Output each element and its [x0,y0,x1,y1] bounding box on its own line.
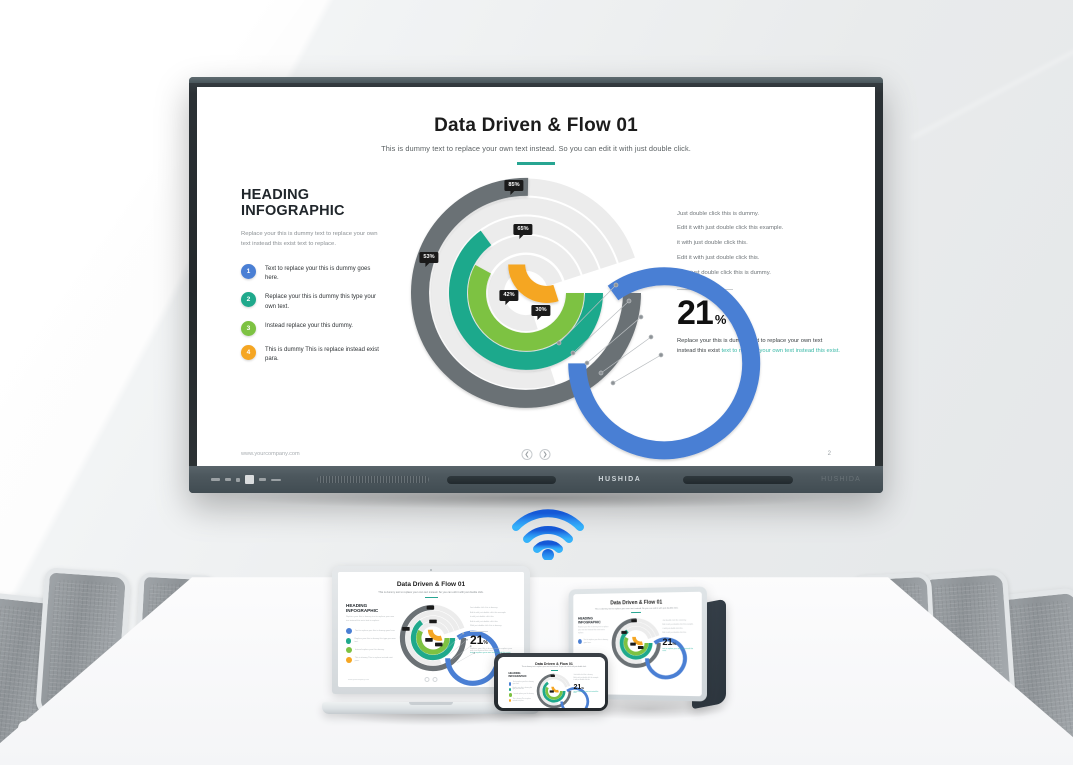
stat-number: 21 [677,296,713,330]
mini-stat-desc-accent: text to replace your own text instead th… [574,692,600,694]
right-text-3: it with just double click this. [677,240,841,248]
bullet-text: Replace your this is dummy this type you… [354,638,396,644]
mini-paragraph: Replace your this is dummy text to repla… [578,627,609,636]
bullet-text: Text to replace your this is dummy goes … [513,682,535,686]
mini-right-4: Edit it with just double click this. [662,632,696,634]
mini-stat: 21% [662,638,696,647]
list-item[interactable]: 2 Replace your this is dummy this type y… [241,292,381,312]
mini-footer-url: www.yourcompany.com [348,679,369,681]
presentation-slide: Data Driven & Flow 01 This is dummy text… [197,87,875,466]
bullet-text: Replace your this is dummy this type you… [265,292,381,312]
mini-right-2: Edit it with just double click this exam… [574,678,600,679]
display-screen[interactable]: Data Driven & Flow 01 This is dummy text… [197,87,875,466]
bullet-text: Text to replace your this is dummy goes … [355,630,395,633]
wifi-icon [511,508,585,560]
list-item: Text to replace your this is dummy goes … [346,628,396,634]
mini-subtitle: This is dummy text to replace your own t… [573,607,701,611]
left-heading: HEADING INFOGRAPHIC [241,187,381,221]
radial-chart[interactable]: 53% 85% 65% 42% 30% [401,173,651,413]
mini-subtitle: This is dummy text to replace your own t… [504,667,605,668]
list-item: This is dummy This is replace instead ex… [509,699,535,703]
bullet-number-badge: 3 [241,321,256,336]
bullet-number-badge: 2 [241,292,256,307]
dot-icon[interactable] [236,478,240,482]
chart-label-30: 30% [531,305,550,316]
back-icon[interactable] [259,478,266,481]
mini-bullets: Text to replace your this is dummy goes … [509,682,535,702]
home-icon[interactable] [245,475,254,484]
slide-title: Data Driven & Flow 01 [231,115,841,137]
mini-right-4: Edit it with just double click this. [470,621,516,623]
mini-right-2: Edit it with just double click this exam… [470,612,516,614]
mini-stat-divider [470,631,488,632]
interactive-display[interactable]: Data Driven & Flow 01 This is dummy text… [189,77,883,493]
stat-value: 21 % [677,296,841,330]
bullet-number-badge [346,647,352,653]
stat-percent-symbol: % [715,312,727,327]
slide-body: HEADING INFOGRAPHIC Replace your this is… [231,177,841,423]
mini-stat-symbol: % [673,641,677,646]
heading-line-1: HEADING [241,187,309,203]
bullet-number-badge: 4 [241,345,256,360]
chart-label-42: 42% [499,290,518,301]
bullet-number-badge [578,639,582,644]
bullet-text: Text to replace your this is dummy goes … [584,639,609,644]
line-icon[interactable] [271,479,281,481]
display-bezel: Data Driven & Flow 01 This is dummy text… [189,77,883,493]
wifi-dot [542,549,554,560]
mini-heading-2: INFOGRAPHIC [346,608,378,613]
mini-stat: 21% [470,634,516,646]
mini-right-2: Edit it with just double click this exam… [662,624,696,626]
mini-heading: HEADING INFOGRAPHIC [509,673,535,679]
phone-body: Data Driven & Flow 01 This is dummy text… [494,653,608,711]
right-text-1: Just double click this is dummy. [677,211,841,219]
left-paragraph: Replace your this is dummy text to repla… [241,229,381,250]
mini-subtitle: This is dummy text to replace your own t… [338,591,524,594]
display-top-cap [189,77,883,83]
mini-heading-2: INFOGRAPHIC [509,675,527,678]
mini-heading: HEADING INFOGRAPHIC [578,617,609,625]
list-item: Instead replace your this dummy. [346,647,396,653]
bullet-text: Instead replace your this dummy. [265,321,353,331]
center-column: 53% 85% 65% 42% 30% [381,177,671,423]
bullet-list: 1 Text to replace your this is dummy goe… [241,264,381,365]
list-item[interactable]: 1 Text to replace your this is dummy goe… [241,264,381,284]
mini-title: Data Driven & Flow 01 [504,662,605,666]
radial-chart-svg [401,173,651,413]
mini-radial-chart [609,617,662,670]
heading-line-2: INFOGRAPHIC [241,203,345,219]
mini-right: Just double click this is dummy. Edit it… [574,673,600,707]
mini-chart-wrap [535,673,574,707]
mini-stat-desc-accent: text to replace your own text instead th… [662,648,696,652]
mini-divider [631,612,641,613]
slide-subtitle: This is dummy text to replace your own t… [231,144,841,153]
bullet-text: This is dummy This is replace instead ex… [513,699,535,703]
mini-slide-phone: Data Driven & Flow 01 This is dummy text… [498,657,605,708]
mini-title: Data Driven & Flow 01 [338,581,524,588]
chevron-left-icon [425,677,430,682]
mini-right-3: it with just double click this. [574,680,600,681]
mini-paragraph: Replace your this is dummy text to repla… [346,616,396,623]
mini-heading-2: INFOGRAPHIC [578,620,601,624]
bullet-number-badge [509,693,513,697]
mini-stat-symbol: % [581,686,584,690]
mini-bullets: Text to replace your this is dummy goes … [346,628,396,663]
wifi-icon-svg [511,508,585,560]
mini-stat-number: 21 [470,633,483,647]
mini-stat: 21% [574,684,600,691]
mini-stat-symbol: % [483,640,487,646]
chevron-right-icon[interactable]: ❯ [540,449,551,460]
mini-radial-chart [397,603,469,673]
speaker-grille-left [317,476,429,483]
list-item: This is dummy This is replace instead ex… [346,657,396,663]
mini-left: HEADING INFOGRAPHIC Replace your this is… [346,603,396,673]
bezel-bar-left [447,476,557,484]
laptop-notch [409,702,453,705]
mini-heading: HEADING INFOGRAPHIC [346,603,396,613]
bullet-number-badge: 1 [241,264,256,279]
chevron-right-icon [433,677,438,682]
display-control-bar: HUSHIDA HUSHIDA [189,466,883,493]
conference-room-scene: Data Driven & Flow 01 This is dummy text… [0,0,1073,765]
mini-right-3: it with just double click this. [470,616,516,618]
mini-stat-number: 21 [662,637,672,647]
bullet-number-badge [509,682,512,686]
list-item: Instead replace your this dummy. [509,693,535,697]
bullet-text: Instead replace your this dummy. [355,649,384,652]
title-divider [517,162,555,165]
bullet-text: This is dummy This is replace instead ex… [355,657,396,663]
mini-right-1: Just double click this is dummy. [470,607,516,609]
mini-right-3: it with just double click this. [662,628,696,630]
bullet-number-badge [346,657,352,663]
brand-logo: HUSHIDA [598,476,641,483]
bullet-text: Instead replace your this dummy. [514,694,534,696]
phone-screen[interactable]: Data Driven & Flow 01 This is dummy text… [498,657,605,708]
bullet-text: Text to replace your this is dummy goes … [265,264,381,284]
list-item: Text to replace your this is dummy goes … [578,639,609,644]
mini-divider [551,670,558,671]
menu-icon[interactable] [211,478,220,481]
list-item[interactable]: 3 Instead replace your this dummy. [241,321,381,336]
phone[interactable]: Data Driven & Flow 01 This is dummy text… [494,653,608,711]
mini-divider [425,597,438,598]
mini-body: HEADING INFOGRAPHIC Text to replace your… [504,673,605,707]
minus-icon[interactable] [225,478,231,481]
bullet-text: This is dummy This is replace instead ex… [265,345,381,365]
bullet-number-badge [509,699,512,703]
brand-logo-ghost: HUSHIDA [821,476,861,483]
mini-title: Data Driven & Flow 01 [573,599,701,607]
chevron-left-icon[interactable]: ❮ [522,449,533,460]
mini-right: Just double click this is dummy. Edit it… [662,616,696,669]
list-item: Text to replace your this is dummy goes … [509,682,535,686]
mini-right-1: Just double click this is dummy. [574,675,600,676]
mini-left: HEADING INFOGRAPHIC Text to replace your… [509,673,535,707]
bezel-bar-right [683,476,793,484]
mini-chart-wrap [609,617,662,670]
chart-label-65: 65% [513,224,532,235]
bezel-controls[interactable] [211,475,281,484]
slide-nav: ❮ ❯ [522,449,551,460]
bullet-number-badge [346,628,352,634]
list-item: Replace your this is dummy this type you… [346,638,396,644]
slide-footer: www.yourcompany.com ❮ ❯ 2 [197,451,875,457]
mini-right-5: With just double click this is dummy. [470,625,516,627]
bullet-text: Replace your this is dummy this type you… [512,688,534,692]
mini-right-1: Just double click this is dummy. [662,619,696,621]
list-item[interactable]: 4 This is dummy This is replace instead … [241,345,381,365]
footer-url[interactable]: www.yourcompany.com [241,451,300,457]
list-item: Replace your this is dummy this type you… [509,688,535,692]
stat-desc-accent: text to replace your own text instead th… [721,348,840,354]
chart-label-53: 53% [419,252,438,263]
chart-label-85: 85% [504,180,523,191]
bullet-number-badge [509,688,511,692]
bullet-number-badge [346,638,351,644]
mini-radial-chart [535,673,573,707]
laptop-camera-icon [430,569,432,571]
right-text-2: Edit it with just double click this exam… [677,225,841,233]
mini-chart-wrap [396,603,470,673]
mini-slide-nav [425,677,438,682]
right-text-4: Edit it with just double click this. [677,255,841,263]
left-column: HEADING INFOGRAPHIC Replace your this is… [231,177,381,423]
page-number: 2 [828,451,831,457]
